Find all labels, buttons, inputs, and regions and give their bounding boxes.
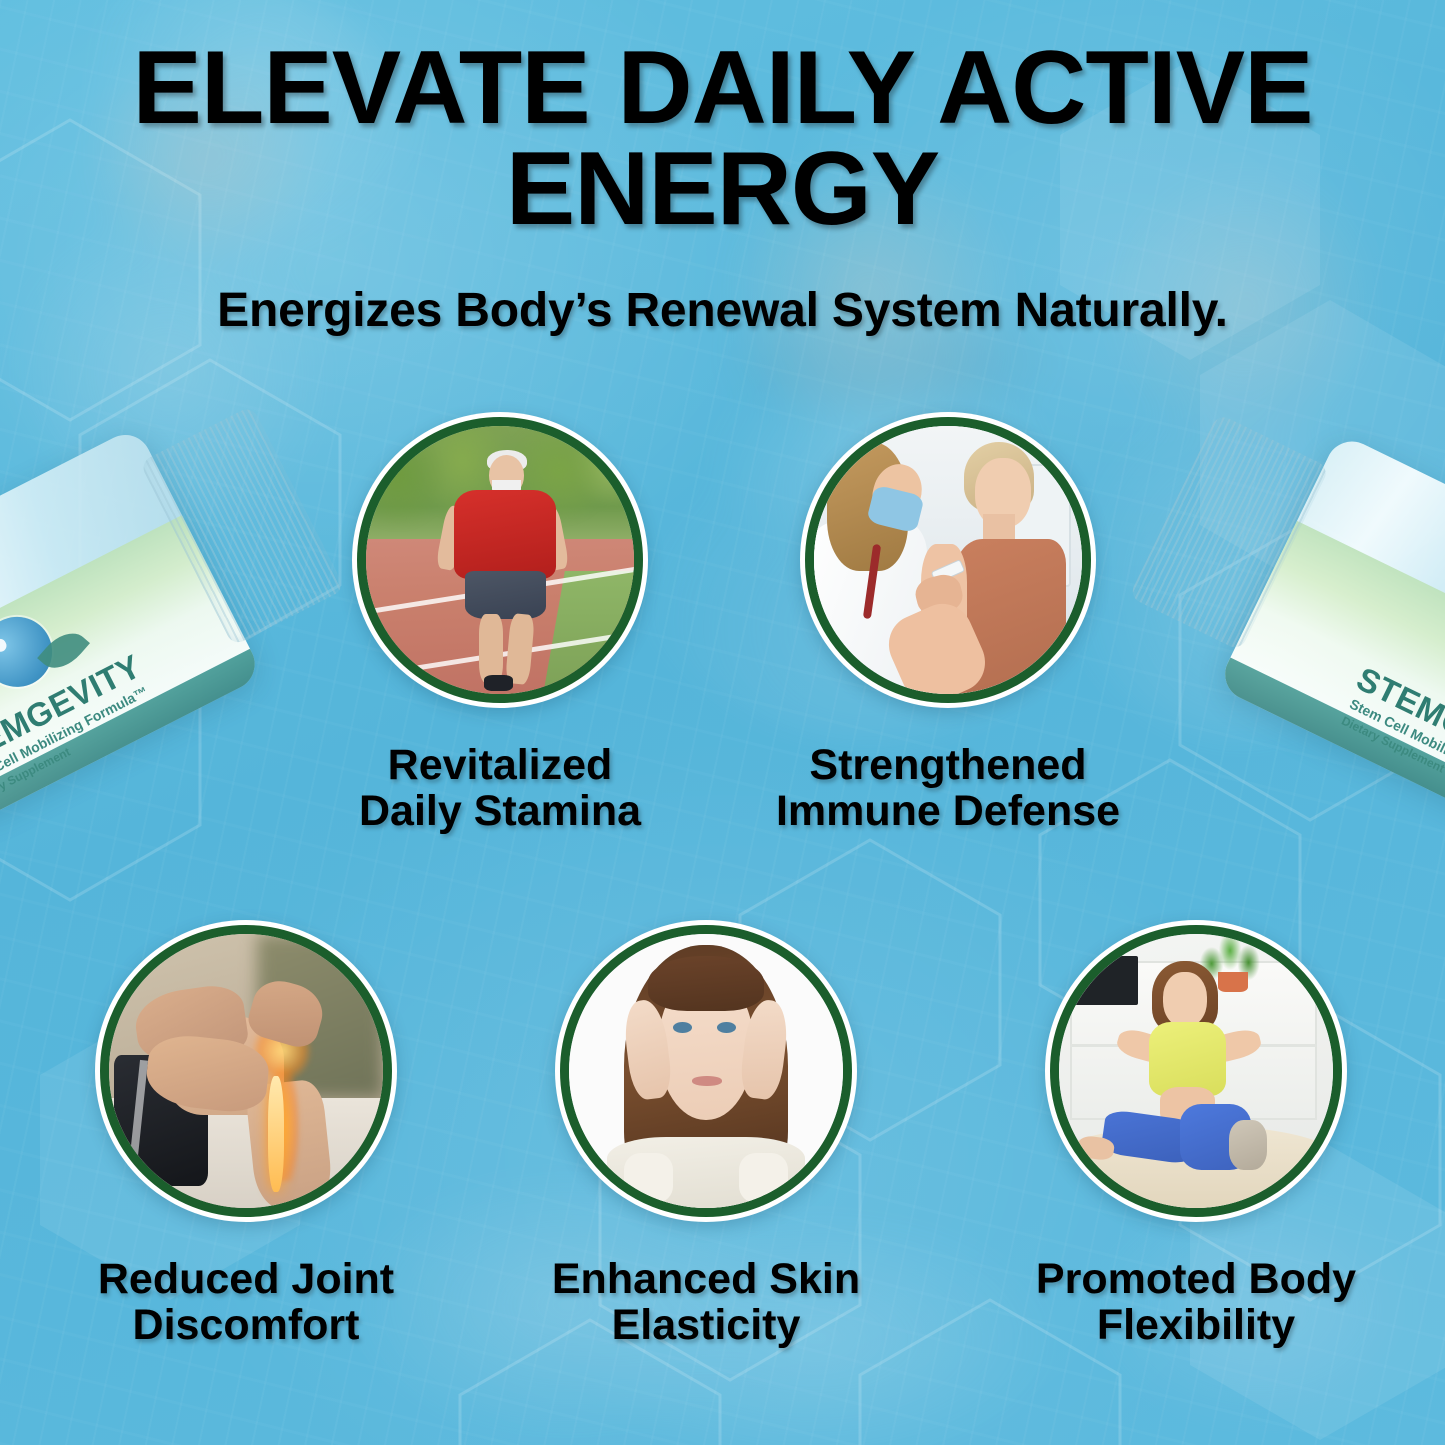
poster-subheadline: Energizes Body’s Renewal System Naturall… <box>0 283 1445 338</box>
poster-headline: ELEVATE DAILY ACTIVE ENERGY <box>0 38 1445 240</box>
benefit-enhanced-skin-elasticity: Enhanced Skin Elasticity <box>555 920 857 1222</box>
benefit-image-circle <box>800 412 1096 708</box>
benefit-image-ring <box>805 417 1091 703</box>
benefit-image-ring <box>100 925 392 1217</box>
benefit-image-ring <box>357 417 643 703</box>
benefit-image-circle <box>555 920 857 1222</box>
benefit-strengthened-immune-defense: Strengthened Immune Defense <box>800 412 1096 708</box>
benefit-label: Enhanced Skin Elasticity <box>491 1256 921 1348</box>
benefit-reduced-joint-discomfort: Reduced Joint Discomfort <box>95 920 397 1222</box>
photo-woman-face <box>569 934 843 1208</box>
benefit-image-ring <box>560 925 852 1217</box>
benefit-image-ring <box>1050 925 1342 1217</box>
benefit-image-circle <box>1045 920 1347 1222</box>
photo-nurse-injection <box>814 426 1082 694</box>
photo-knee-pain <box>109 934 383 1208</box>
photo-senior-runner <box>366 426 634 694</box>
photo-woman-stretching <box>1059 934 1333 1208</box>
benefit-label: Revitalized Daily Stamina <box>290 742 710 834</box>
benefit-image-circle <box>95 920 397 1222</box>
benefit-revitalized-daily-stamina: Revitalized Daily Stamina <box>352 412 648 708</box>
benefit-label: Promoted Body Flexibility <box>981 1256 1411 1348</box>
benefit-promoted-body-flexibility: Promoted Body Flexibility <box>1045 920 1347 1222</box>
benefit-label: Reduced Joint Discomfort <box>31 1256 461 1348</box>
promotional-poster: STEMGEVITY Stem Cell Mobilizing Formula™… <box>0 0 1445 1445</box>
benefit-image-circle <box>352 412 648 708</box>
benefit-label: Strengthened Immune Defense <box>728 742 1168 834</box>
